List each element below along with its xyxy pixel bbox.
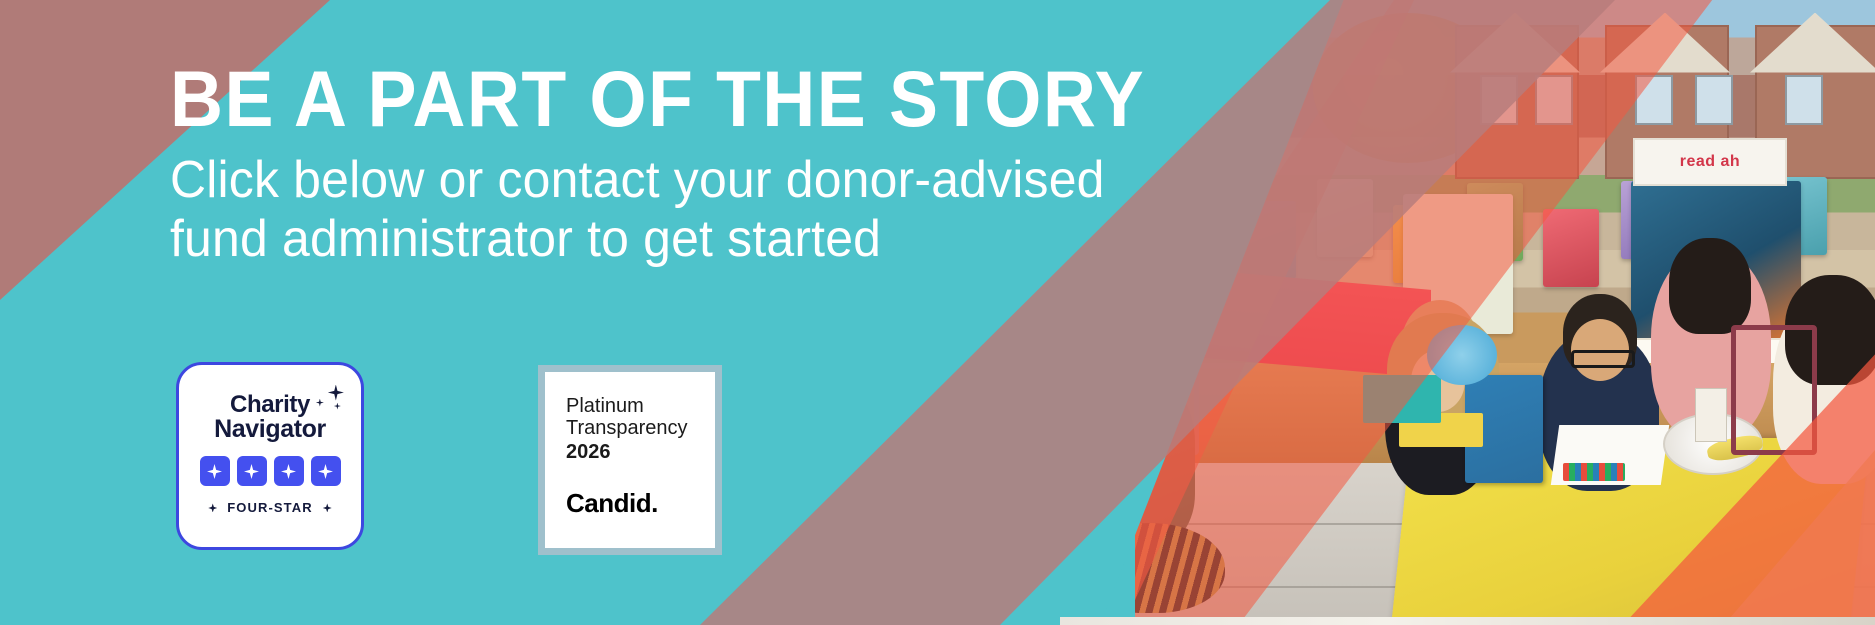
charity-navigator-star-row — [200, 456, 341, 486]
read-ahead-sign-text: read ah — [1680, 153, 1740, 171]
star-icon — [274, 456, 304, 486]
candid-year: 2026 — [566, 441, 694, 463]
donor-advised-fund-banner: read ah READ · A — [0, 0, 1875, 625]
sparkle-icon — [312, 385, 352, 417]
charity-navigator-rating-row: FOUR-STAR — [208, 500, 331, 515]
book-cover — [1543, 209, 1599, 287]
star-icon — [237, 456, 267, 486]
colored-pencils — [1563, 463, 1625, 481]
read-ahead-sign: read ah — [1633, 138, 1787, 186]
candid-platinum-badge[interactable]: Platinum Transparency 2026 Candid. — [538, 365, 722, 555]
candid-line1: Platinum — [566, 395, 644, 417]
charity-navigator-line2: Navigator — [214, 417, 326, 443]
charity-navigator-line1: Charity — [214, 393, 326, 417]
adult-hair — [1669, 238, 1751, 334]
diamond-icon — [323, 503, 332, 512]
student-glasses — [1571, 350, 1635, 368]
window-4 — [1695, 75, 1733, 125]
candid-badge-frame: Platinum Transparency 2026 Candid. — [545, 372, 715, 548]
candid-badge-headline: Platinum Transparency 2026 — [566, 395, 694, 463]
charity-navigator-wordmark: Charity Navigator — [214, 393, 326, 443]
star-icon — [200, 456, 230, 486]
banner-headline: BE A PART OF THE STORY — [170, 60, 1100, 137]
bottom-light-strip — [1060, 617, 1875, 625]
banner-subheadline: Click below or contact your donor-advise… — [170, 151, 1111, 267]
candid-wordmark: Candid. — [566, 488, 694, 519]
banner-copy: BE A PART OF THE STORY Click below or co… — [170, 60, 1170, 268]
charity-navigator-badge[interactable]: Charity Navigator FOUR-STAR — [176, 362, 364, 550]
window-5 — [1785, 75, 1823, 125]
star-icon — [311, 456, 341, 486]
candid-badge-face: Platinum Transparency 2026 Candid. — [552, 379, 708, 541]
milk-carton — [1695, 388, 1727, 442]
diamond-icon — [208, 503, 217, 512]
candid-line2: Transparency — [566, 417, 688, 439]
charity-navigator-rating-label: FOUR-STAR — [227, 500, 312, 515]
